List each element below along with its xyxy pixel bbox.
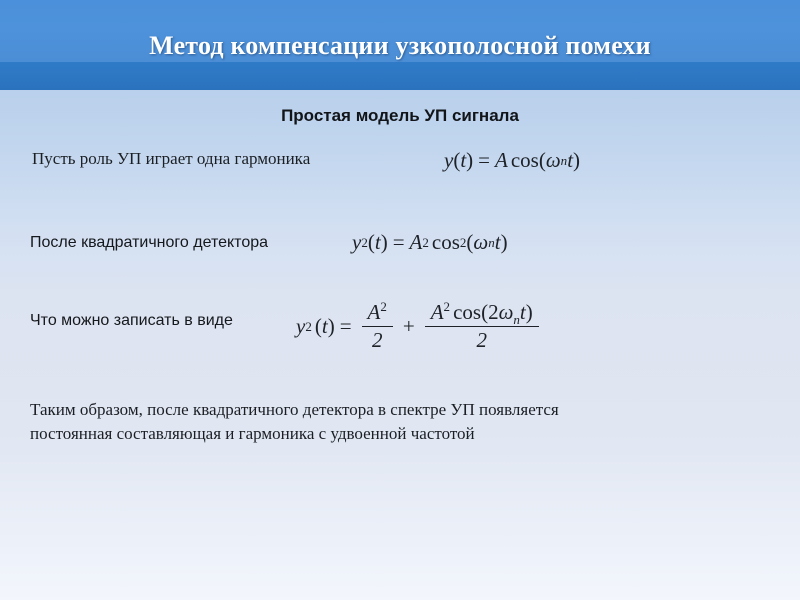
formula3-term2-cos: cos [453,300,481,324]
formula3-term1-power: 2 [380,299,387,314]
formula3-paren-close: ) [328,314,335,339]
formula1-amplitude: A [495,148,508,173]
formula-squared-detector: y 2 ( t ) = A 2 cos 2 ( ω п t ) [352,230,508,255]
statement-text-3: Что можно записать в виде [30,310,233,332]
formula3-term2-factor: 2 [488,300,499,324]
formula-harmonic-signal: y ( t ) = A cos ( ω п t ) [444,148,580,173]
formula3-term1-denominator: 2 [362,326,393,353]
slide-subtitle: Простая модель УП сигнала [0,105,800,127]
formula3-term2-arg-close: ) [526,300,533,324]
conclusion-line-1: Таким образом, после квадратичного детек… [30,398,730,422]
formula3-fraction-dc-term: A2 2 [362,300,393,353]
header-band-bottom [0,62,800,90]
conclusion-paragraph: Таким образом, после квадратичного детек… [30,398,730,446]
statement-text-1: Пусть роль УП играет одна гармоника [32,148,310,170]
formula3-term2-base: A [431,300,444,324]
formula3-plus: + [403,314,415,339]
formula3-lhs-var: y [296,314,305,339]
formula2-paren-close: ) [381,230,388,255]
formula3-term1-numerator: A2 [362,300,393,326]
statement-row-3: Что можно записать в виде [30,310,233,332]
slide-header: Метод компенсации узкополосной помехи [0,0,800,90]
slide: Метод компенсации узкополосной помехи Пр… [0,0,800,600]
formula3-term2-power: 2 [444,299,451,314]
formula3-paren-open: ( [315,314,322,339]
formula2-paren-open: ( [368,230,375,255]
formula2-arg-open: ( [466,230,473,255]
formula3-fraction-double-frequency-term: A2cos(2ωпt) 2 [425,300,539,353]
formula1-arg-open: ( [539,148,546,173]
formula3-term1-base: A [368,300,381,324]
formula1-omega: ω [546,148,561,173]
formula1-equals: = [478,148,490,173]
formula2-amplitude: A [410,230,423,255]
page-title: Метод компенсации узкополосной помехи [0,30,800,62]
formula3-equals: = [340,314,352,339]
formula3-term2-arg-open: ( [481,300,488,324]
formula2-equals: = [393,230,405,255]
formula2-cos: cos [432,230,460,255]
formula1-paren-open: ( [453,148,460,173]
formula3-term2-numerator: A2cos(2ωпt) [425,300,539,326]
formula3-term2-omega: ω [499,300,514,324]
formula1-cos: cos [511,148,539,173]
formula2-lhs-var: y [352,230,361,255]
formula2-omega: ω [473,230,488,255]
formula1-arg-close: ) [573,148,580,173]
formula3-term2-denominator: 2 [425,326,539,353]
formula2-arg-close: ) [501,230,508,255]
formula-expanded-spectrum: y 2 ( t ) = A2 2 + A2cos(2ωпt) 2 [296,300,544,353]
conclusion-line-2: постоянная составляющая и гармоника с уд… [30,422,730,446]
statement-text-2: После квадратичного детектора [30,232,268,254]
formula1-lhs-var: y [444,148,453,173]
statement-row-1: Пусть роль УП играет одна гармоника [32,148,310,170]
formula1-paren-close: ) [466,148,473,173]
statement-row-2: После квадратичного детектора [30,232,268,254]
